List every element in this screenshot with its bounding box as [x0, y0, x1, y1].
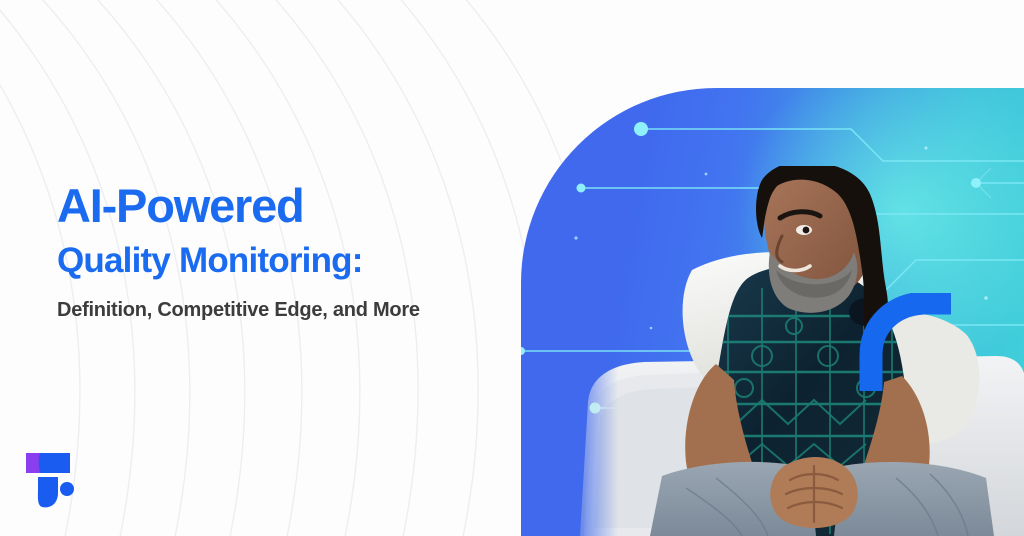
blog-hero-banner: AI-Powered Quality Monitoring: Definitio… — [0, 0, 1024, 536]
headline-group: AI-Powered Quality Monitoring: Definitio… — [57, 182, 477, 325]
quarter-arc-accent-icon — [859, 293, 954, 393]
subheadline: Definition, Competitive Edge, and More — [57, 297, 437, 325]
headline-line-2: Quality Monitoring: — [57, 240, 477, 281]
headline-line-1: AI-Powered — [57, 182, 477, 231]
subject-photo — [566, 166, 1024, 536]
media-panel — [521, 88, 1024, 536]
brand-logo-icon[interactable] — [24, 449, 82, 511]
